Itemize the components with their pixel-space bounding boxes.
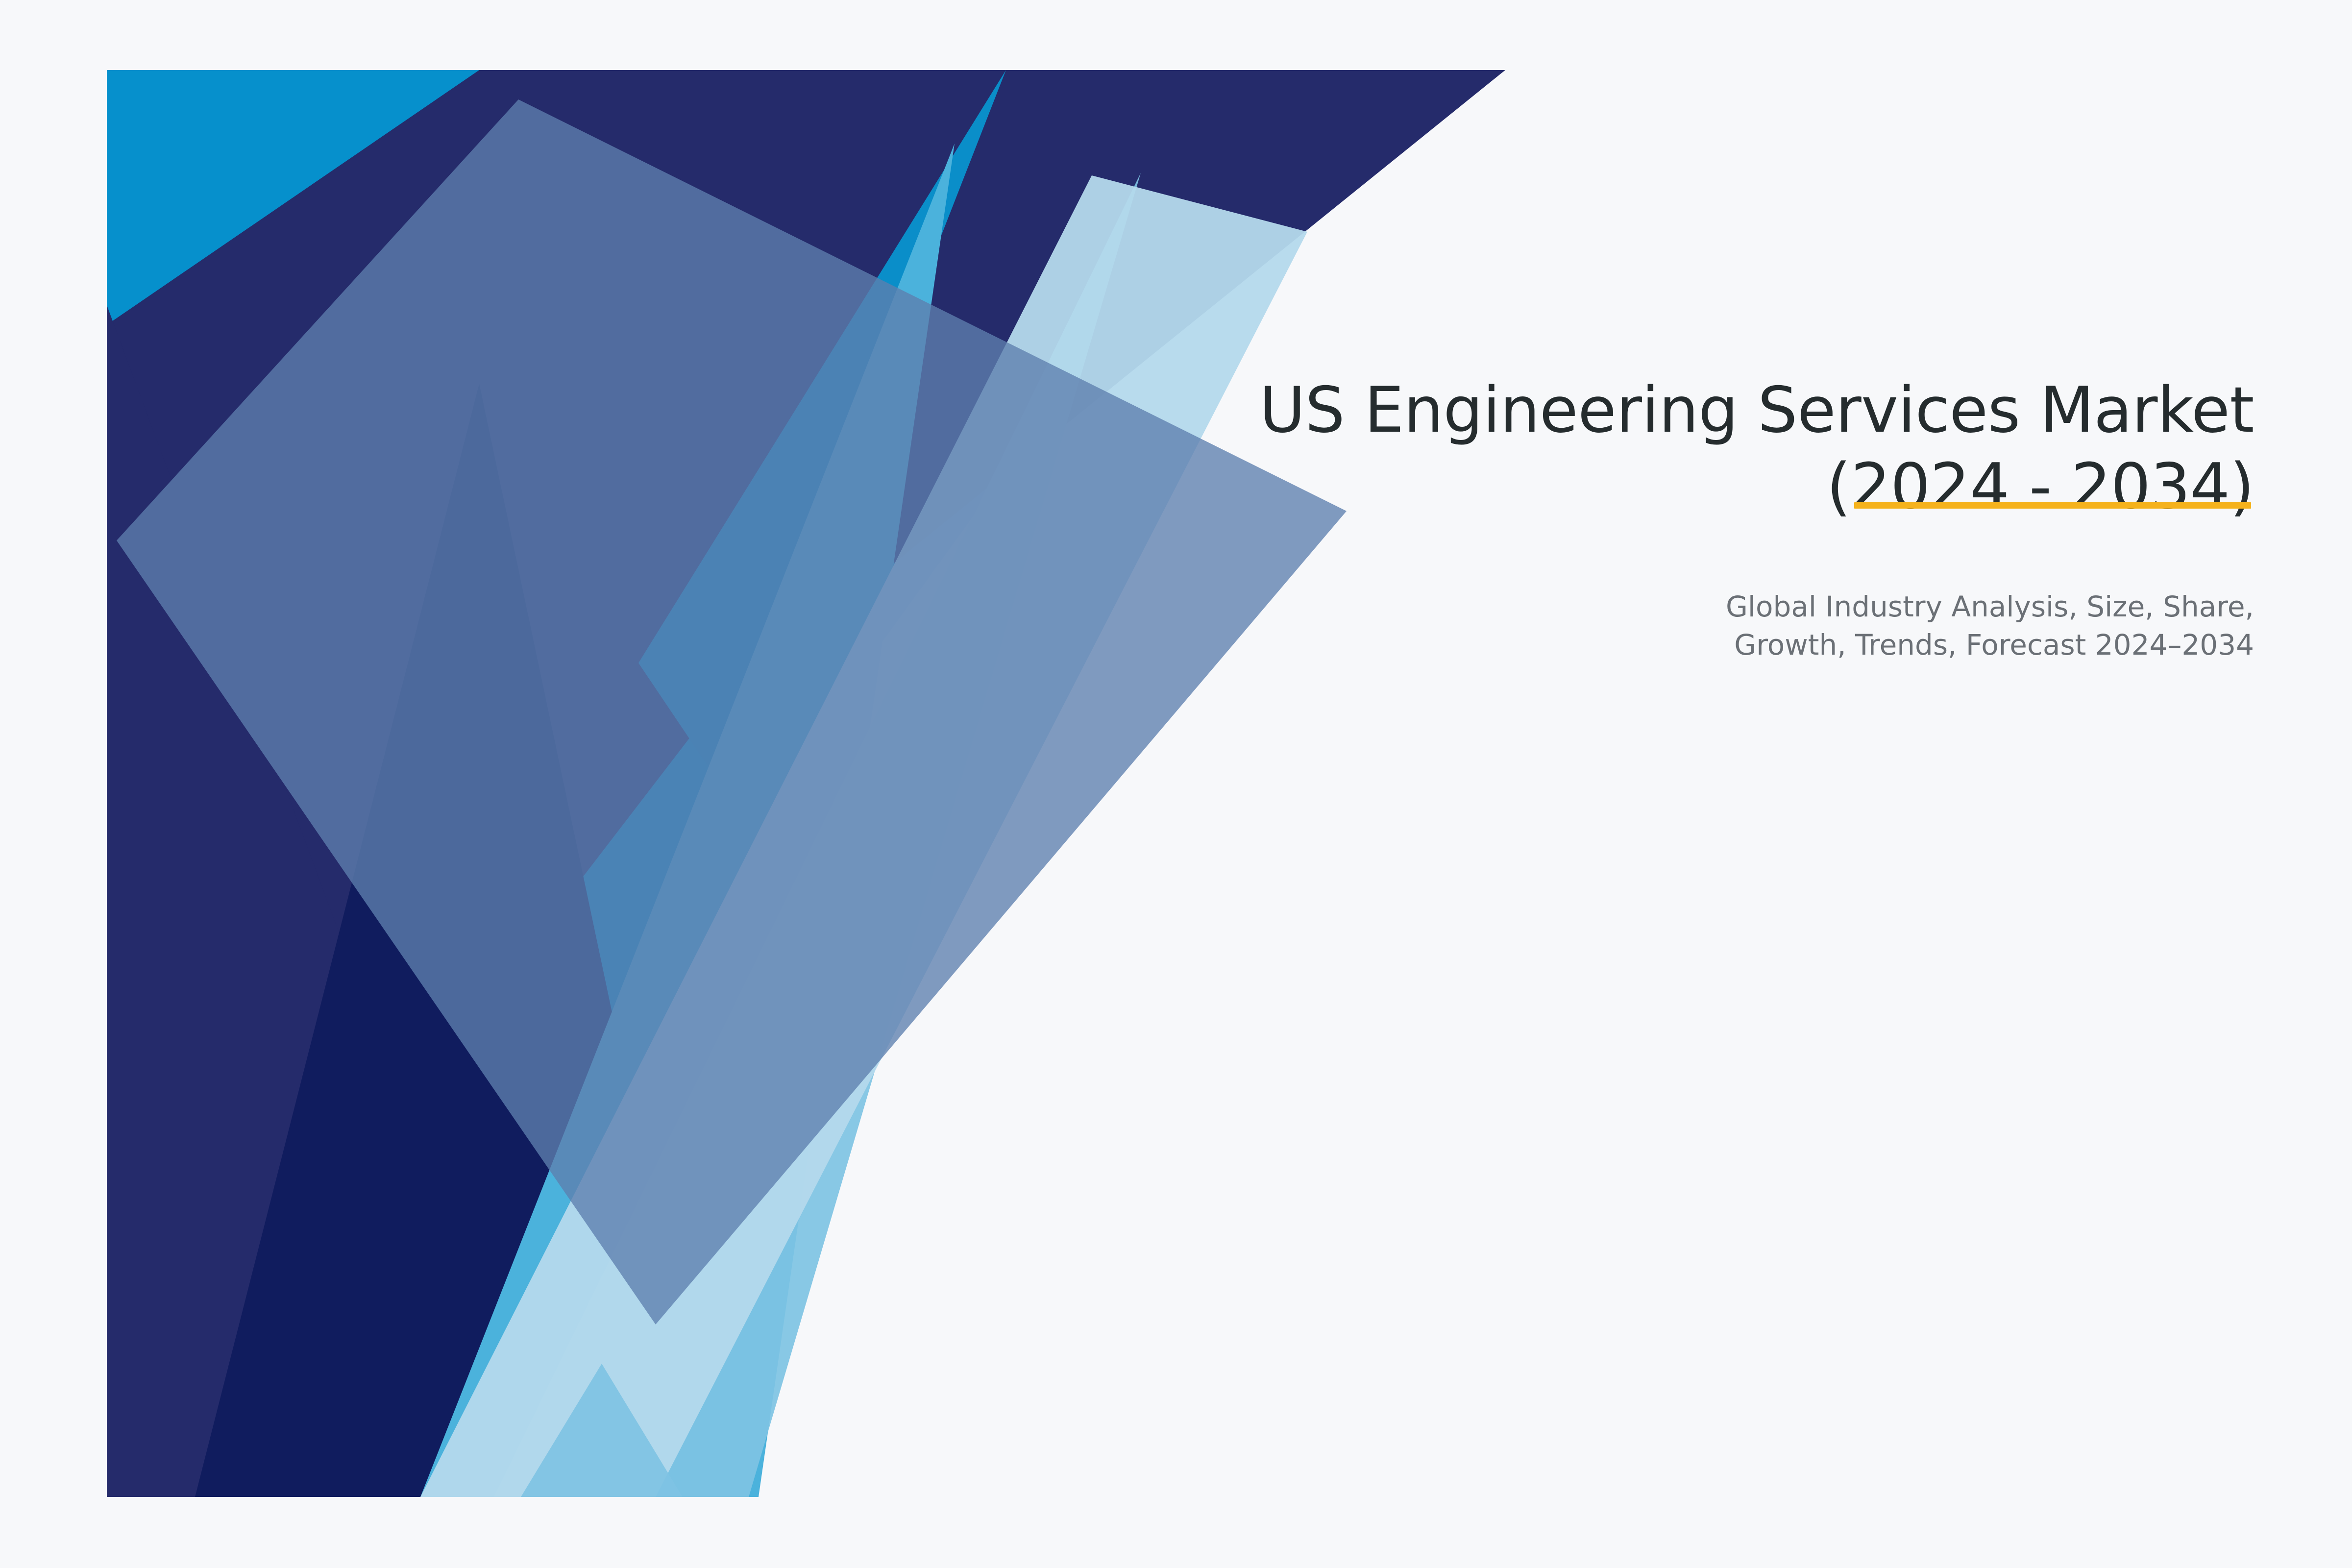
report-title-line-2: (2024 - 2034) [1827, 450, 2254, 523]
page-title: US Engineering Services Market (2024 - 2… [980, 372, 2254, 525]
report-title-line-1: US Engineering Services Market [1259, 374, 2254, 447]
title-accent-underline [1854, 502, 2251, 509]
cover-text-block: US Engineering Services Market (2024 - 2… [980, 372, 2254, 664]
abstract-angular-cover-artwork [107, 70, 1505, 1497]
cover-page: US Engineering Services Market (2024 - 2… [0, 0, 2352, 1568]
report-title-line-2-wrapper: (2024 - 2034) [1827, 449, 2254, 525]
report-subtitle-line-2: Growth, Trends, Forecast 2024–2034 [1734, 628, 2254, 661]
report-subtitle-line-1: Global Industry Analysis, Size, Share, [1726, 590, 2254, 623]
page-subtitle: Global Industry Analysis, Size, Share, G… [980, 525, 2254, 664]
